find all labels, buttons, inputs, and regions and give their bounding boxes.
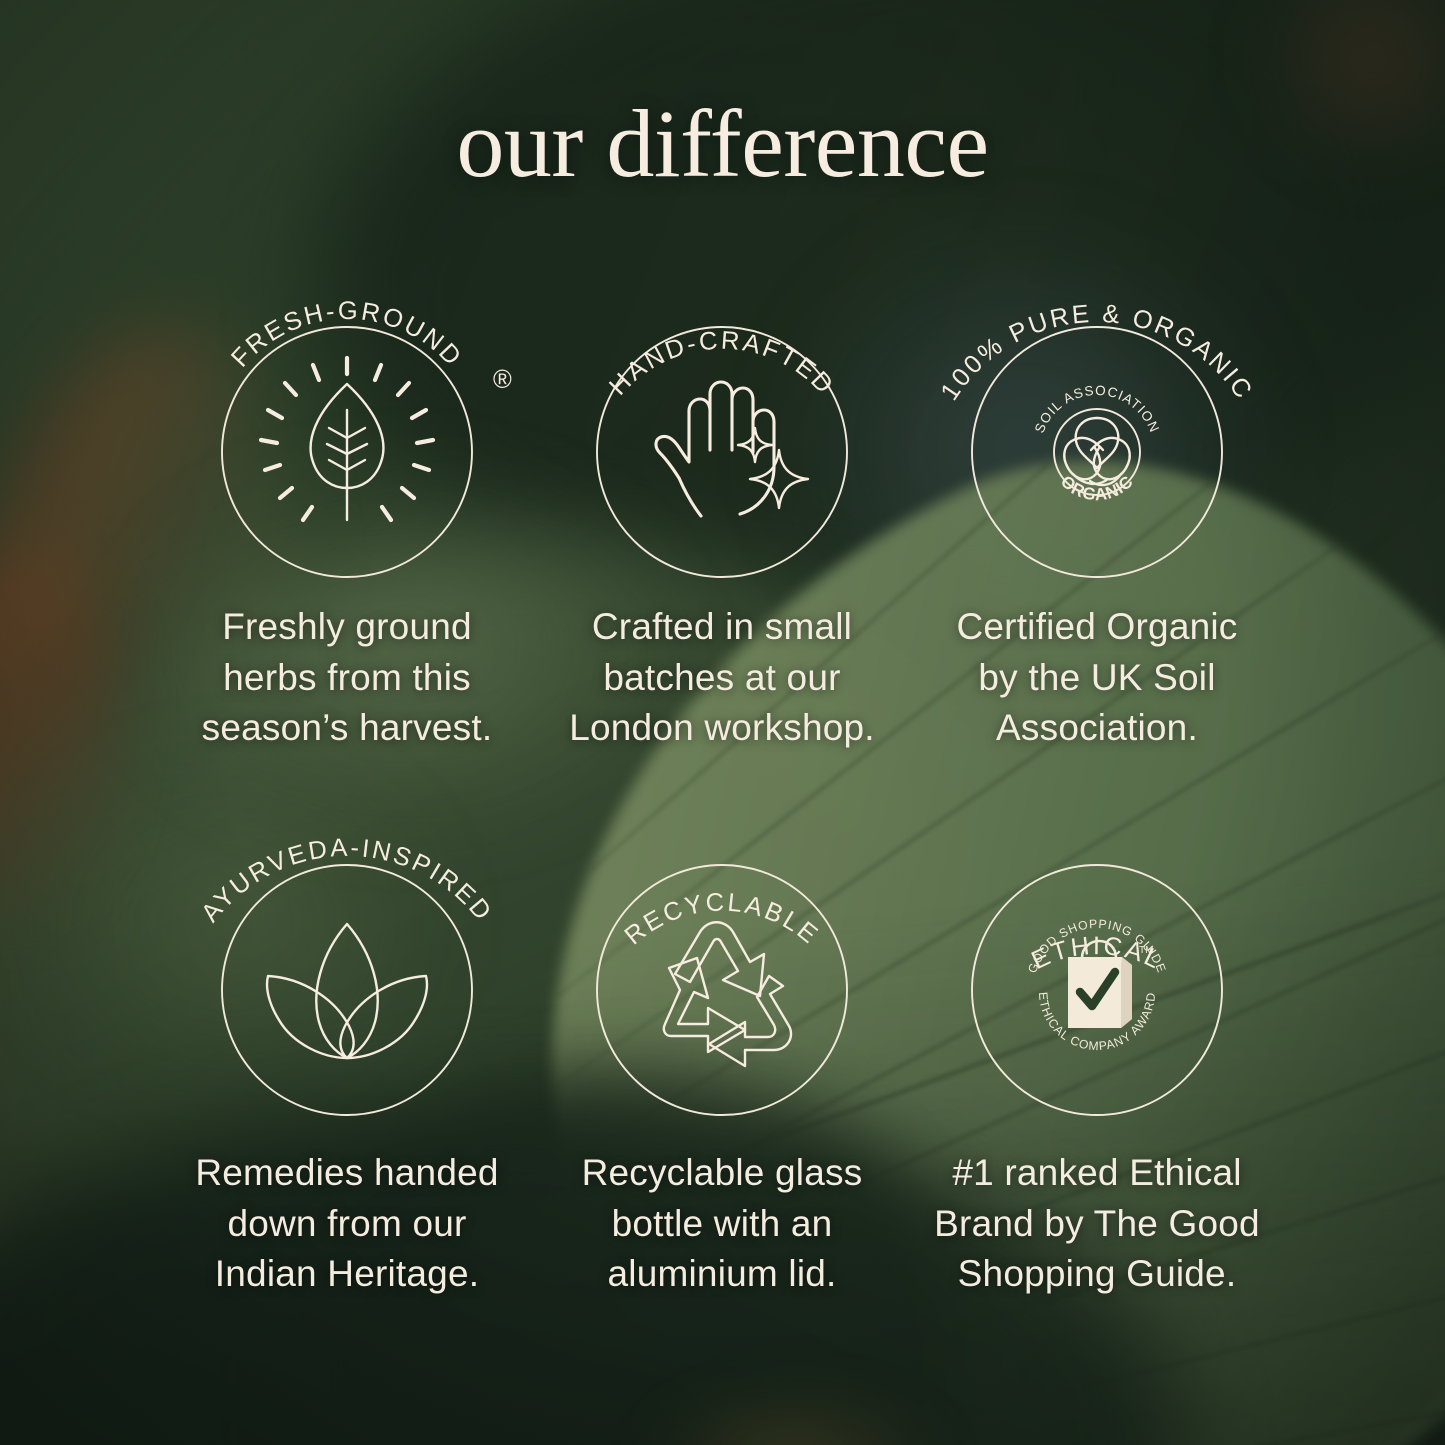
badge-caption: Remedies handed down from our Indian Her… [137, 1148, 557, 1300]
badge-graphic-hand-crafted: HAND-CRAFTED [512, 262, 932, 562]
hand-with-sparkles-icon [656, 382, 808, 516]
badge-recyclable: RECYCLABLE Recyclable glass bottle with … [512, 800, 932, 1300]
badge-caption: Crafted in small batches at our London w… [512, 602, 932, 754]
badge-caption: Certified Organic by the UK Soil Associa… [887, 602, 1307, 754]
badge-arc-label: HAND-CRAFTED [604, 327, 840, 401]
badge-ring [222, 865, 472, 1115]
badge-graphic-fresh-ground: FRESH-GROUND ® [137, 262, 557, 562]
badge-ethical: ETHICAL GOOD SHOPPING GUIDE ETHICAL COMP… [887, 800, 1307, 1300]
badge-caption: Recyclable glass bottle with an aluminiu… [512, 1148, 932, 1300]
badge-graphic-ayurveda: AYURVEDA-INSPIRED [137, 800, 557, 1100]
soil-association-organic-logo: SOIL ASSOCIATION ORGANIC [1032, 383, 1163, 505]
leaf-with-sun-rays-icon [261, 358, 433, 520]
badge-ayurveda-inspired: AYURVEDA-INSPIRED Remedies handed down f… [137, 800, 557, 1300]
badge-caption: #1 ranked Ethical Brand by The Good Shop… [887, 1148, 1307, 1300]
badge-graphic-recyclable: RECYCLABLE [512, 800, 932, 1100]
badge-arc-label: AYURVEDA-INSPIRED [196, 834, 498, 928]
badge-hand-crafted: HAND-CRAFTED Crafted in small batches at… [512, 262, 932, 754]
badge-caption: Freshly ground herbs from this season’s … [137, 602, 557, 754]
badge-graphic-pure-organic: 100% PURE & ORGANIC SOIL ASSOCIATION ORG… [887, 262, 1307, 562]
page-title: our difference [0, 96, 1445, 192]
badge-graphic-ethical: ETHICAL GOOD SHOPPING GUIDE ETHICAL COMP… [887, 800, 1307, 1100]
gsg-trademark-icon: TM [1139, 945, 1153, 956]
recycling-triangle-icon [664, 922, 791, 1066]
badge-pure-organic: 100% PURE & ORGANIC SOIL ASSOCIATION ORG… [887, 262, 1307, 754]
lotus-leaf-icon [267, 924, 427, 1058]
soil-association-organic-word: ORGANIC [1057, 472, 1137, 505]
badge-fresh-ground: FRESH-GROUND ® [137, 262, 557, 754]
badge-arc-label: RECYCLABLE [620, 888, 825, 950]
